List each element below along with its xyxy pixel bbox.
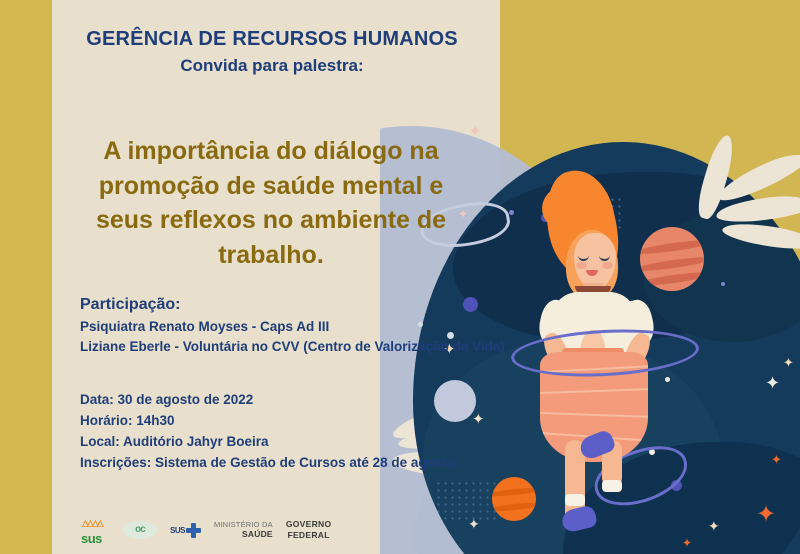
star-dot-10 — [721, 282, 725, 286]
speaker-2: Liziane Eberle - Voluntária no CVV (Cent… — [80, 337, 505, 357]
ministerio-line-2: SAÚDE — [214, 529, 273, 540]
star-icon-light-3: ✦ — [472, 412, 485, 427]
participation-heading: Participação: — [80, 296, 505, 314]
star-icon-light-4: ✦ — [468, 518, 480, 532]
sus-logo-wave-icon: △△△△ — [82, 520, 108, 527]
title-line-1: A importância do diálogo na — [56, 134, 486, 169]
sus-logo-text: sus — [81, 527, 102, 551]
governo-line-2: FEDERAL — [286, 530, 332, 541]
star-icon-gold-3: ✦ — [756, 502, 776, 526]
skirt-fold-3 — [540, 412, 648, 419]
ouvidoria-logo-text: oc — [135, 524, 145, 535]
star-icon-gold-4: ✦ — [682, 537, 692, 549]
governo-federal-logo: GOVERNO FEDERAL — [286, 519, 332, 540]
cheek-left — [576, 262, 587, 269]
star-dot-8 — [509, 210, 514, 215]
star-icon-gold-1: ✦ — [765, 375, 780, 393]
sus-cross-logo-text: SUS — [170, 526, 185, 535]
sock-back — [602, 480, 622, 492]
event-details-block: Data: 30 de agosto de 2022 Horário: 14h3… — [80, 390, 459, 474]
header-block: GERÊNCIA DE RECURSOS HUMANOS Convida par… — [52, 28, 492, 76]
title-line-4: trabalho. — [56, 238, 486, 273]
sus-cross-logo: SUS — [170, 523, 201, 538]
planet-small-band-2 — [492, 501, 536, 513]
event-date: Data: 30 de agosto de 2022 — [80, 390, 459, 411]
skirt-fold-2 — [540, 388, 648, 395]
participation-block: Participação: Psiquiatra Renato Moyses -… — [80, 296, 505, 356]
star-icon-gold-2: ✦ — [771, 454, 782, 467]
title-line-3: seus reflexos no ambiente de — [56, 203, 486, 238]
governo-line-1: GOVERNO — [286, 519, 332, 530]
planet-band-1 — [640, 237, 704, 256]
sus-logo: △△△△ sus — [80, 518, 110, 542]
event-time: Horário: 14h30 — [80, 411, 459, 432]
sock-front — [565, 494, 585, 506]
ouvidoria-logo: oc — [123, 521, 157, 539]
speaker-1: Psiquiatra Renato Moyses - Caps Ad III — [80, 317, 505, 337]
star-dot-2 — [665, 377, 670, 382]
star-icon-4: ✦ — [783, 357, 794, 370]
organization-title: GERÊNCIA DE RECURSOS HUMANOS — [52, 28, 492, 51]
title-line-2: promoção de saúde mental e — [56, 169, 486, 204]
cheek-right — [602, 262, 613, 269]
health-cross-icon — [186, 523, 201, 538]
invitation-subtitle: Convida para palestra: — [52, 56, 492, 76]
planet-small — [492, 477, 536, 521]
planet-small-band-1 — [492, 486, 536, 498]
poster-canvas: ✦ ✦ ✦ ✦ — [0, 0, 800, 554]
ministerio-line-1: MINISTÉRIO DA — [214, 520, 273, 529]
planet-large — [640, 227, 704, 291]
event-place: Local: Auditório Jahyr Boeira — [80, 432, 459, 453]
event-registration: Inscrições: Sistema de Gestão de Cursos … — [80, 453, 459, 474]
planet-band-2 — [640, 254, 704, 273]
footer-logo-bar: △△△△ sus oc SUS MINISTÉRIO DA SAÚDE GOVE… — [80, 518, 331, 542]
ministerio-saude-logo: MINISTÉRIO DA SAÚDE — [214, 520, 273, 540]
lecture-title: A importância do diálogo na promoção de … — [56, 134, 486, 272]
star-icon-3: ✦ — [708, 520, 720, 534]
